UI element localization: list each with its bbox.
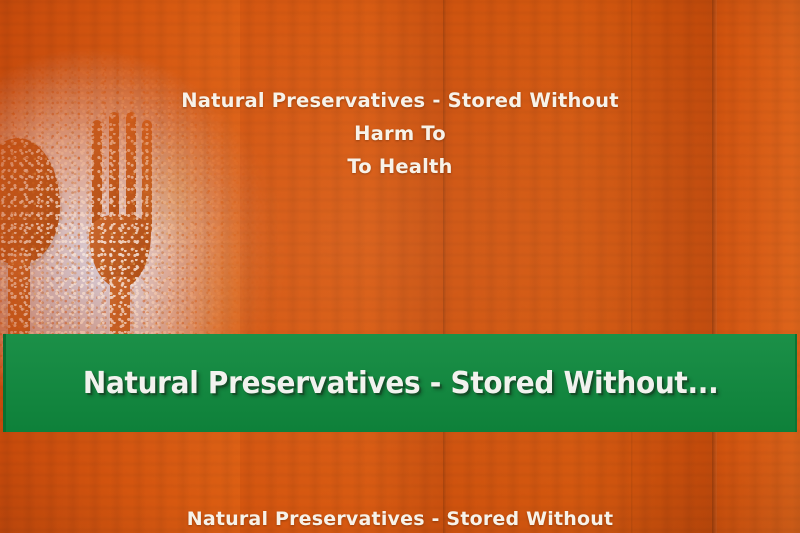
banner-title-text: Natural Preservatives - Stored Without..… — [83, 366, 719, 401]
overlay-heading-bottom-line1: Natural Preservatives - Stored Without H… — [178, 505, 622, 533]
image-vignette — [0, 0, 800, 533]
green-title-banner: Natural Preservatives - Stored Without..… — [3, 334, 797, 432]
image-canvas: Natural Preservatives - Stored Without H… — [0, 0, 800, 533]
overlay-heading-top: Natural Preservatives - Stored Without H… — [178, 84, 622, 183]
overlay-heading-top-line2: To Health — [178, 150, 622, 183]
overlay-heading-top-line1: Natural Preservatives - Stored Without H… — [178, 84, 622, 150]
overlay-heading-bottom: Natural Preservatives - Stored Without H… — [178, 505, 622, 533]
